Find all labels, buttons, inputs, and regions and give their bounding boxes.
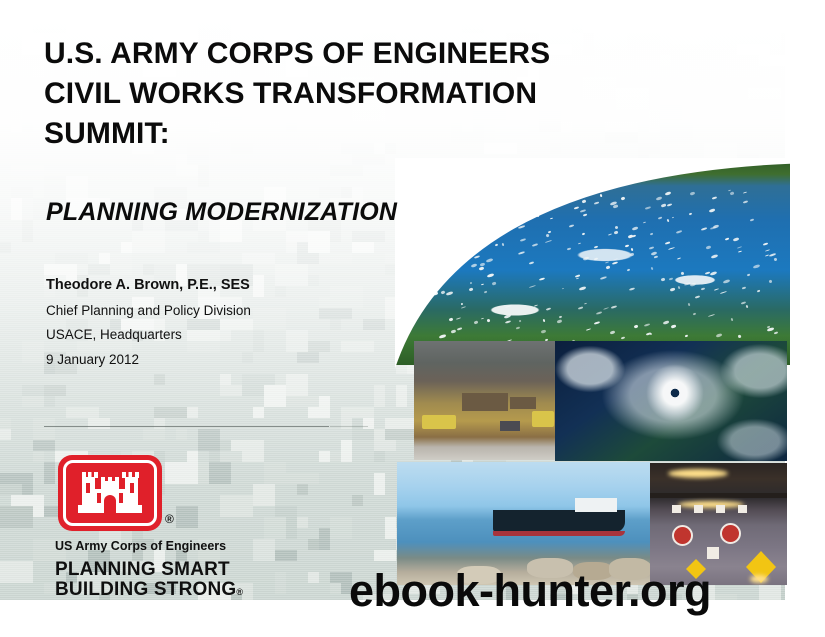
tagline-line-2: BUILDING STRONG bbox=[55, 579, 236, 600]
site-watermark: ebook-hunter.org bbox=[349, 568, 711, 613]
logo-registered-mark: ® bbox=[165, 512, 174, 526]
branding-tagline: US Army Corps of Engineers PLANNING SMAR… bbox=[55, 540, 243, 600]
presenter-block: Theodore A. Brown, P.E., SES Chief Plann… bbox=[46, 278, 466, 377]
bridge-beam bbox=[650, 493, 787, 498]
usace-castle-logo bbox=[58, 455, 162, 531]
tagline-line-1: PLANNING SMART bbox=[55, 560, 243, 580]
divider-line bbox=[44, 426, 329, 427]
ship-superstructure bbox=[575, 498, 617, 512]
title-line-1: U.S. ARMY CORPS OF ENGINEERS bbox=[44, 34, 664, 74]
tagline-registered-mark: ® bbox=[236, 587, 243, 597]
organization-line: US Army Corps of Engineers bbox=[55, 540, 243, 560]
right-white-margin bbox=[785, 0, 825, 600]
presenter-name: Theodore A. Brown, P.E., SES bbox=[46, 278, 466, 304]
title-line-2: CIVIL WORKS TRANSFORMATION bbox=[44, 74, 664, 114]
presenter-organization: USACE, Headquarters bbox=[46, 328, 466, 353]
title-line-3: SUMMIT: bbox=[44, 114, 664, 154]
divider-line-secondary bbox=[330, 426, 368, 427]
hurricane-satellite-photo bbox=[555, 341, 787, 461]
presentation-slide: U.S. ARMY CORPS OF ENGINEERS CIVIL WORKS… bbox=[0, 0, 825, 637]
page-subtitle: PLANNING MODERNIZATION bbox=[46, 198, 666, 227]
presenter-role: Chief Planning and Policy Division bbox=[46, 304, 466, 329]
page-title: U.S. ARMY CORPS OF ENGINEERS CIVIL WORKS… bbox=[44, 34, 664, 154]
ship-hull bbox=[493, 510, 625, 532]
presentation-date: 9 January 2012 bbox=[46, 353, 466, 378]
castle-icon bbox=[58, 455, 162, 531]
